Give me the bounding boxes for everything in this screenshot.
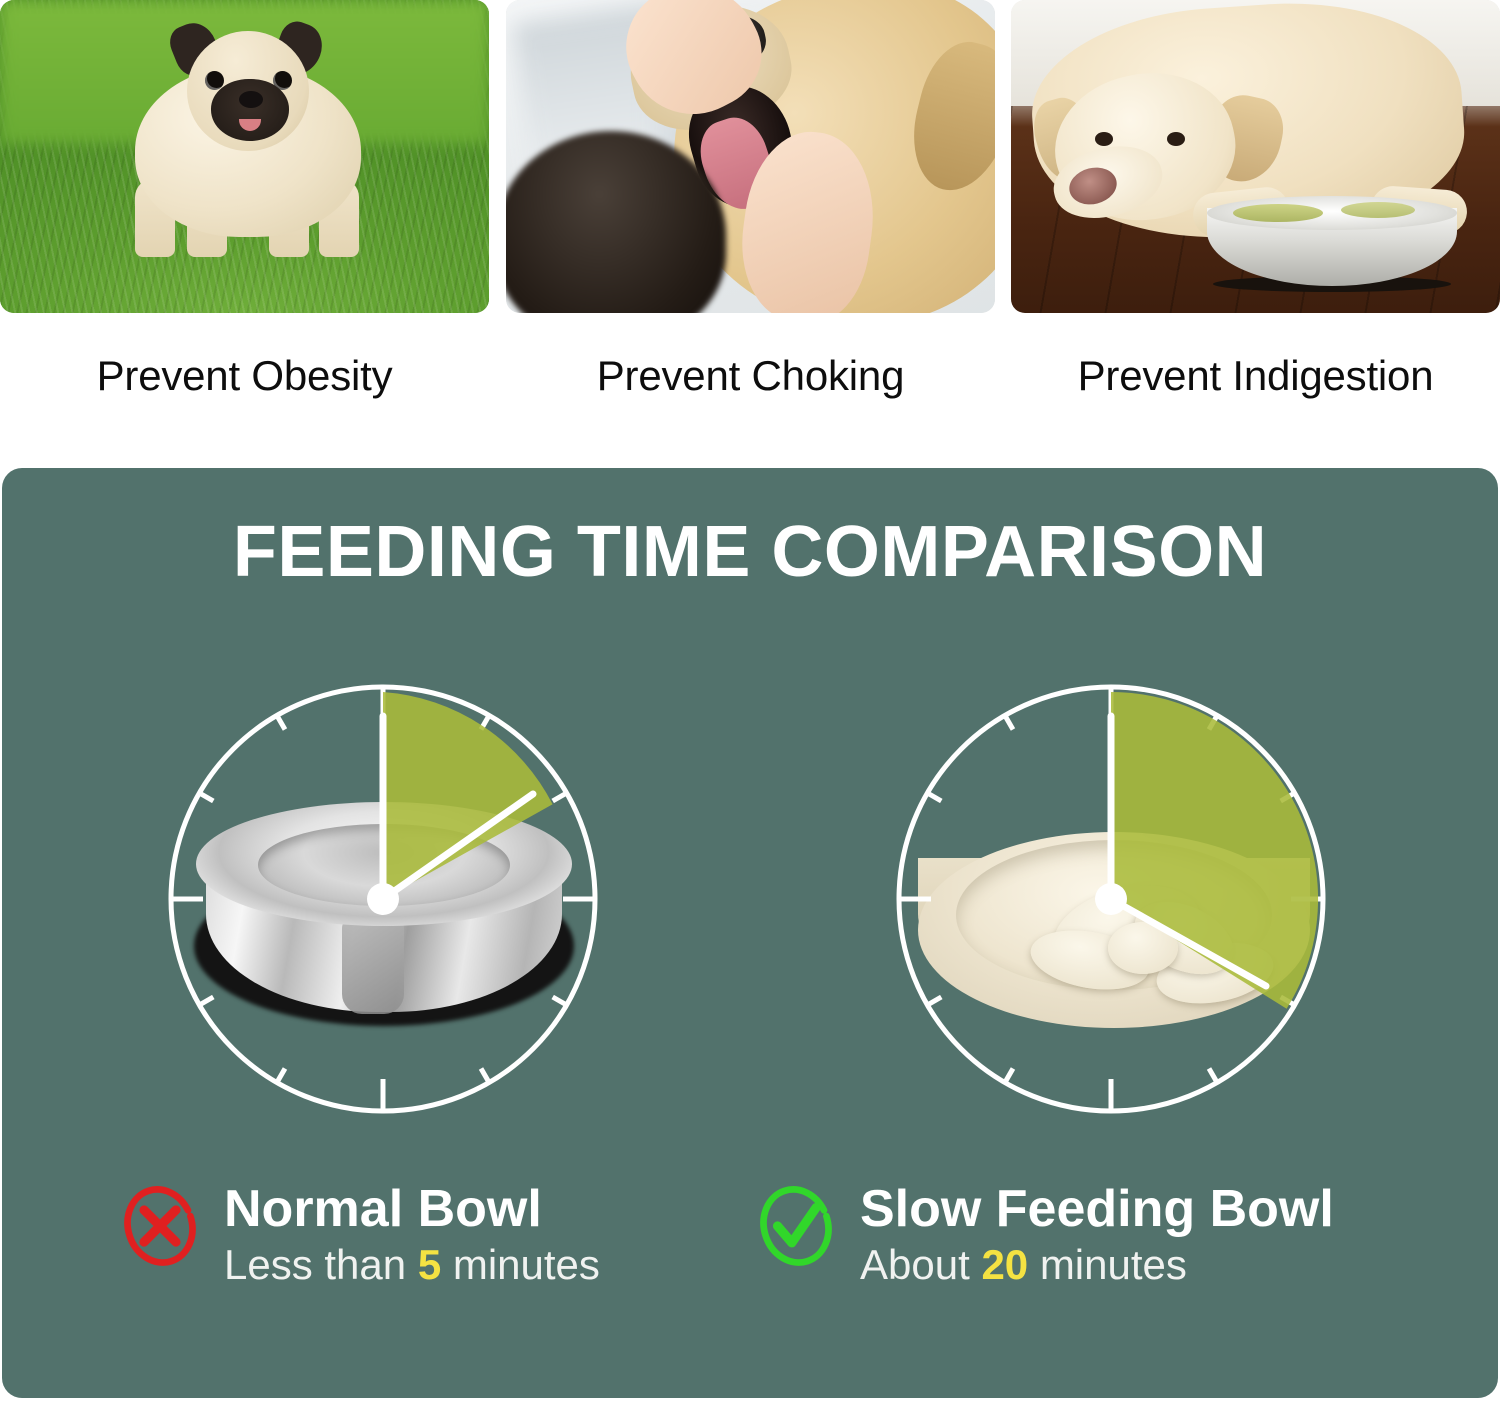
pug-nose bbox=[239, 91, 263, 108]
legend-text-normal: Normal Bowl Less than 5 minutes bbox=[224, 1180, 600, 1289]
photo-dog-choking bbox=[506, 0, 995, 313]
benefit-label-prevent-obesity: Prevent Obesity bbox=[0, 355, 489, 397]
legend-sub-normal-bowl: Less than 5 minutes bbox=[224, 1241, 600, 1289]
benefit-card-prevent-choking: Prevent Choking bbox=[506, 0, 995, 397]
infographic-page: Prevent Obesity Prevent Choking bbox=[0, 0, 1500, 1405]
legend-row: Normal Bowl Less than 5 minutes Slow Fee… bbox=[2, 1180, 1498, 1330]
clock-comparison-row bbox=[2, 664, 1498, 1134]
check-circle-icon bbox=[754, 1184, 838, 1268]
benefit-label-prevent-indigestion: Prevent Indigestion bbox=[1011, 355, 1500, 397]
pug-dog-illustration bbox=[95, 13, 395, 263]
wedge-slow-bowl bbox=[1111, 692, 1318, 1009]
legend-sub-pre: Less than bbox=[224, 1241, 418, 1288]
legend-sub-value: 20 bbox=[981, 1241, 1028, 1288]
benefit-label-prevent-choking: Prevent Choking bbox=[506, 355, 995, 397]
cross-circle-icon bbox=[118, 1184, 202, 1268]
labrador-eye bbox=[1095, 132, 1113, 146]
legend-sub-post: minutes bbox=[441, 1241, 600, 1288]
clock-dial-normal bbox=[148, 664, 618, 1134]
legend-sub-value: 5 bbox=[418, 1241, 441, 1288]
pug-muzzle bbox=[211, 79, 289, 141]
legend-sub-post: minutes bbox=[1028, 1241, 1187, 1288]
legend-title-slow-bowl: Slow Feeding Bowl bbox=[860, 1182, 1334, 1237]
clock-normal-bowl bbox=[148, 664, 618, 1134]
bowl-food bbox=[1341, 202, 1415, 218]
benefit-card-prevent-indigestion: Prevent Indigestion bbox=[1011, 0, 1500, 397]
labrador-eye bbox=[1167, 132, 1185, 146]
clock-center-hub bbox=[367, 883, 399, 915]
legend-sub-slow-bowl: About 20 minutes bbox=[860, 1241, 1334, 1289]
photo-dog-indigestion bbox=[1011, 0, 1500, 313]
clock-dial-slow bbox=[876, 664, 1346, 1134]
legend-text-slow: Slow Feeding Bowl About 20 minutes bbox=[860, 1180, 1334, 1289]
photo-overweight-pug bbox=[0, 0, 489, 313]
bowl-food bbox=[1233, 204, 1323, 222]
legend-sub-pre: About bbox=[860, 1241, 981, 1288]
page-title: FEEDING TIME COMPARISON bbox=[2, 516, 1498, 588]
benefit-card-prevent-obesity: Prevent Obesity bbox=[0, 0, 489, 397]
feeding-time-comparison-panel: FEEDING TIME COMPARISON bbox=[2, 468, 1498, 1398]
legend-normal-bowl: Normal Bowl Less than 5 minutes bbox=[118, 1180, 600, 1289]
legend-slow-feeding-bowl: Slow Feeding Bowl About 20 minutes bbox=[754, 1180, 1334, 1289]
clock-center-hub bbox=[1095, 883, 1127, 915]
legend-title-normal-bowl: Normal Bowl bbox=[224, 1182, 600, 1237]
benefits-strip: Prevent Obesity Prevent Choking bbox=[0, 0, 1500, 440]
clock-slow-feeding-bowl bbox=[876, 664, 1346, 1134]
steel-food-bowl bbox=[1207, 208, 1457, 286]
